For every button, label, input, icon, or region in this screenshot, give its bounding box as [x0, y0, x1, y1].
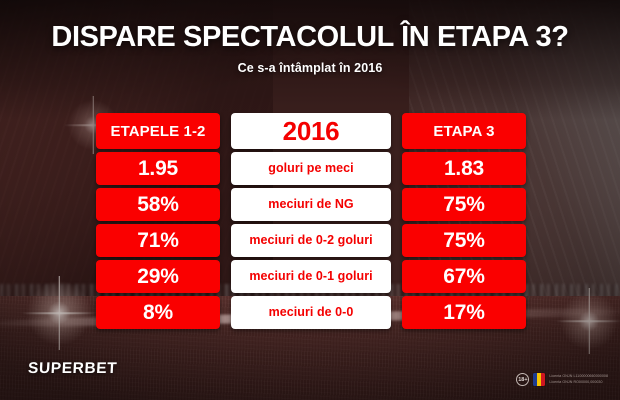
table-row: 71% meciuri de 0-2 goluri 75% [96, 224, 526, 257]
page-title: DISPARE SPECTACOLUL ÎN ETAPA 3? [0, 22, 620, 52]
cell-right-value: 1.83 [402, 152, 526, 185]
column-header-left: ETAPELE 1-2 [96, 113, 220, 149]
cell-metric-label: meciuri de NG [231, 188, 391, 221]
cell-left-value: 8% [96, 296, 220, 329]
romania-flag-icon [533, 373, 545, 386]
flag-stripe-red [541, 373, 545, 386]
legal-footer: 18+ Licenta ONJN L1100000660000008 Licen… [516, 373, 608, 386]
cell-metric-label: meciuri de 0-2 goluri [231, 224, 391, 257]
licence-line-1: Licenta ONJN L1100000660000008 [549, 374, 608, 379]
age-restriction-icon: 18+ [516, 373, 529, 386]
cell-right-value: 75% [402, 188, 526, 221]
table-row: 8% meciuri de 0-0 17% [96, 296, 526, 329]
cell-left-value: 1.95 [96, 152, 220, 185]
licence-text: Licenta ONJN L1100000660000008 Licenta O… [549, 374, 608, 386]
superbet-logo: SUPERBET [28, 360, 118, 378]
cell-right-value: 17% [402, 296, 526, 329]
cell-left-value: 58% [96, 188, 220, 221]
header-block: DISPARE SPECTACOLUL ÎN ETAPA 3? Ce s-a î… [0, 22, 620, 75]
table-row: 29% meciuri de 0-1 goluri 67% [96, 260, 526, 293]
table-header-row: ETAPELE 1-2 2016 ETAPA 3 [96, 113, 526, 149]
column-header-middle: 2016 [231, 113, 391, 149]
stats-table: ETAPELE 1-2 2016 ETAPA 3 1.95 goluri pe … [96, 113, 526, 329]
cell-right-value: 75% [402, 224, 526, 257]
cell-metric-label: meciuri de 0-1 goluri [231, 260, 391, 293]
cell-metric-label: goluri pe meci [231, 152, 391, 185]
table-row: 1.95 goluri pe meci 1.83 [96, 152, 526, 185]
column-header-right: ETAPA 3 [402, 113, 526, 149]
page-subtitle: Ce s-a întâmplat în 2016 [0, 61, 620, 75]
cell-left-value: 71% [96, 224, 220, 257]
infographic-canvas: DISPARE SPECTACOLUL ÎN ETAPA 3? Ce s-a î… [0, 0, 620, 400]
cell-left-value: 29% [96, 260, 220, 293]
cell-metric-label: meciuri de 0-0 [231, 296, 391, 329]
licence-line-2: Licenta ONJN RO00000,000030 [549, 380, 608, 385]
table-row: 58% meciuri de NG 75% [96, 188, 526, 221]
cell-right-value: 67% [402, 260, 526, 293]
